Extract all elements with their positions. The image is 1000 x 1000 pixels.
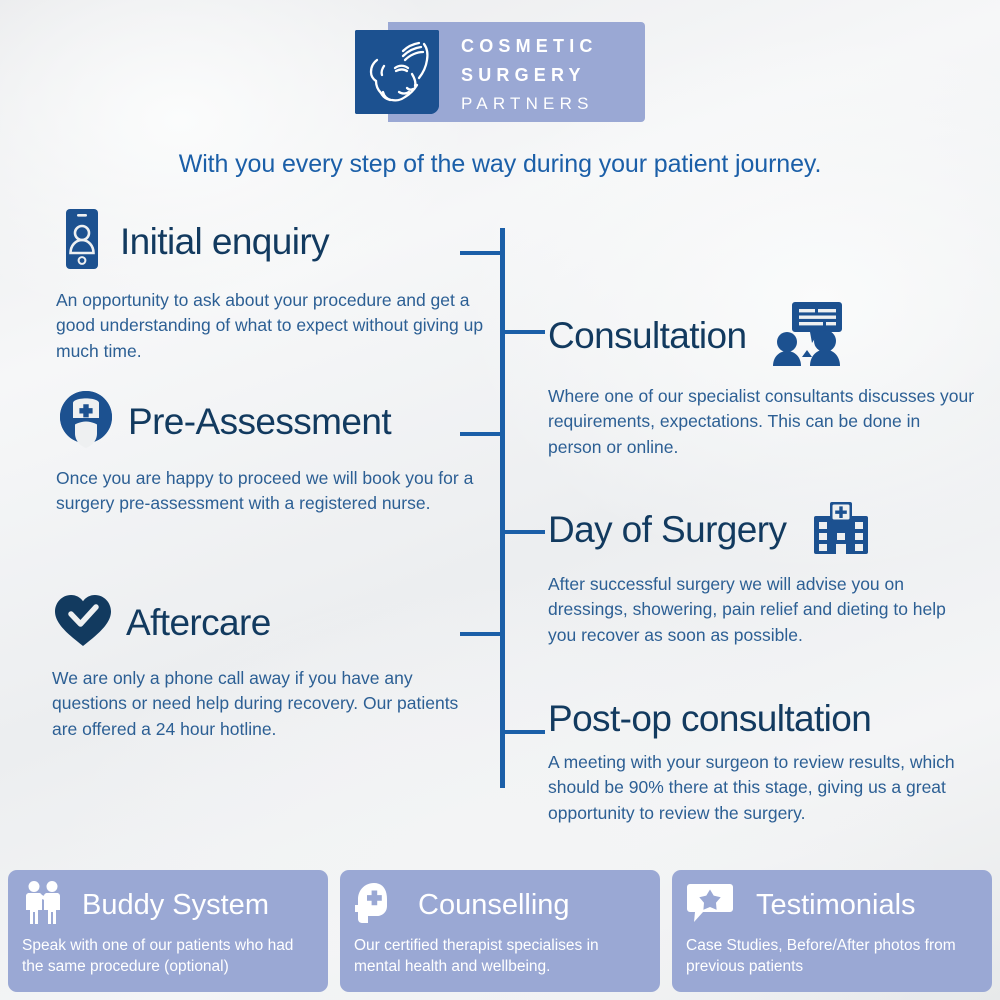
- step-body: Once you are happy to proceed we will bo…: [56, 466, 486, 517]
- hospital-icon: [812, 500, 870, 559]
- two-buddies-icon: [22, 880, 68, 931]
- timeline-spine: [500, 228, 505, 788]
- two-people-speech-bubble-icon: [771, 300, 843, 371]
- step-title: Initial enquiry: [120, 223, 329, 260]
- step-title: Pre-Assessment: [128, 403, 391, 440]
- card-buddy-system[interactable]: Buddy System Speak with one of our patie…: [8, 870, 328, 992]
- step-title: Aftercare: [126, 604, 271, 641]
- step-body: A meeting with your surgeon to review re…: [548, 750, 988, 826]
- logo-line-2: SURGERY: [461, 66, 598, 84]
- card-title: Counselling: [418, 891, 570, 920]
- step-body: After successful surgery we will advise …: [548, 572, 978, 648]
- mobile-person-icon: [56, 208, 108, 275]
- heart-check-icon: [52, 592, 114, 653]
- timeline-connector-4: [500, 530, 545, 534]
- stylized-face-icon: [355, 30, 439, 114]
- step-day-of-surgery: Day of Surgery: [548, 500, 978, 648]
- card-testimonials[interactable]: Testimonials Case Studies, Before/After …: [672, 870, 992, 992]
- step-pre-assessment: Pre-Assessment Once you are happy to pro…: [56, 390, 486, 517]
- logo-wordmark: COSMETIC SURGERY PARTNERS: [461, 37, 598, 112]
- step-body: Where one of our specialist consultants …: [548, 384, 978, 460]
- card-body: Case Studies, Before/After photos from p…: [686, 936, 978, 977]
- speech-bubble-star-icon: [686, 882, 734, 929]
- page-headline: With you every step of the way during yo…: [0, 150, 1000, 179]
- step-aftercare: Aftercare We are only a phone call away …: [52, 592, 482, 742]
- step-body: We are only a phone call away if you hav…: [52, 666, 482, 742]
- card-title: Testimonials: [756, 891, 916, 920]
- head-plus-icon: [354, 881, 394, 930]
- card-title: Buddy System: [82, 891, 269, 920]
- service-cards: Buddy System Speak with one of our patie…: [8, 870, 992, 992]
- timeline-connector-2: [500, 330, 545, 334]
- card-body: Speak with one of our patients who had t…: [22, 936, 314, 977]
- step-title: Post-op consultation: [548, 700, 871, 737]
- nurse-icon: [56, 390, 116, 453]
- logo-line-3: PARTNERS: [461, 95, 598, 112]
- card-body: Our certified therapist specialises in m…: [354, 936, 646, 977]
- brand-logo: COSMETIC SURGERY PARTNERS: [355, 22, 645, 122]
- step-consultation: Consultation: [548, 300, 978, 460]
- step-title: Consultation: [548, 317, 747, 354]
- step-body: An opportunity to ask about your procedu…: [56, 288, 486, 364]
- infographic-page: COSMETIC SURGERY PARTNERS With you every…: [0, 0, 1000, 1000]
- card-counselling[interactable]: Counselling Our certified therapist spec…: [340, 870, 660, 992]
- logo-line-1: COSMETIC: [461, 37, 598, 55]
- step-post-op-consultation: Post-op consultation A meeting with your…: [548, 700, 988, 826]
- timeline-connector-6: [500, 730, 545, 734]
- step-title: Day of Surgery: [548, 511, 786, 548]
- step-initial-enquiry: Initial enquiry An opportunity to ask ab…: [56, 208, 486, 364]
